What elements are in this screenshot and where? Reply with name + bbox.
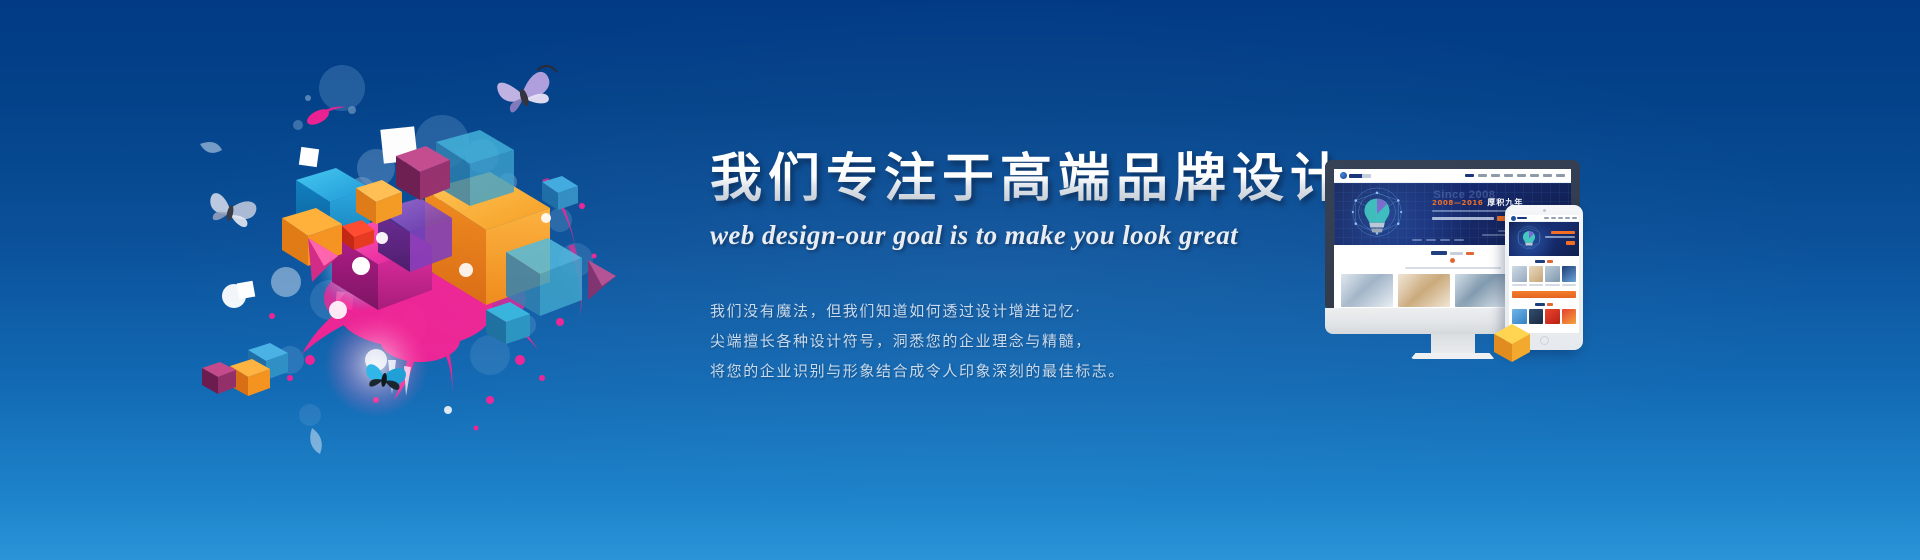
mobile-card-item[interactable] <box>1545 309 1560 324</box>
mobile-nav-item[interactable] <box>1551 217 1556 219</box>
mobile-hero <box>1509 222 1579 256</box>
logo-text <box>1349 174 1371 178</box>
mobile-thumbnail-captions <box>1509 282 1579 286</box>
mobile-hero-copy <box>1545 231 1575 245</box>
monitor-stand-neck <box>1431 334 1475 353</box>
mobile-nav[interactable] <box>1544 217 1577 219</box>
section-bullet <box>1450 258 1455 263</box>
pyramid-purple-right <box>588 260 616 300</box>
section-title-sub <box>1450 252 1463 255</box>
section-title-main <box>1431 251 1447 255</box>
logo-mark-icon <box>1340 172 1347 179</box>
mobile-thumbnail-row <box>1509 263 1579 282</box>
butterfly-top-right <box>495 63 565 116</box>
floating-orange-cube <box>1488 318 1536 366</box>
mobile-lightbulb-icon <box>1515 225 1543 253</box>
mobile-thumbnail-item[interactable] <box>1512 266 1527 282</box>
mobile-thumbnail-item[interactable] <box>1545 266 1560 282</box>
mobile-cta-button[interactable] <box>1512 291 1576 298</box>
home-button-icon[interactable] <box>1540 336 1549 345</box>
nav-item[interactable] <box>1504 174 1513 177</box>
mobile-hero-sub <box>1545 236 1575 238</box>
hero-copy: 我们专注于高端品牌设计 web design-our goal is to ma… <box>710 150 1330 386</box>
hero-pagination-dot[interactable] <box>1440 239 1450 241</box>
nav-item[interactable] <box>1517 174 1526 177</box>
thumbnail-item[interactable] <box>1455 274 1507 307</box>
mobile-header <box>1509 215 1579 222</box>
nav-item[interactable] <box>1530 174 1539 177</box>
mobile-caption <box>1545 284 1560 286</box>
mobile-caption <box>1512 284 1527 286</box>
hero-pagination-dot[interactable] <box>1426 239 1436 241</box>
mobile-thumbnail-item[interactable] <box>1562 266 1577 282</box>
page-subtitle: web design-our goal is to make you look … <box>710 220 1330 251</box>
mobile-nav-item[interactable] <box>1558 217 1563 219</box>
mobile-logo-text <box>1517 217 1527 219</box>
hero-years: 2008—2016 <box>1432 199 1483 207</box>
mobile-caption <box>1529 284 1544 286</box>
nav-item[interactable] <box>1491 174 1500 177</box>
mobile-hero-title <box>1551 231 1575 234</box>
mobile-section2-title-main <box>1535 303 1545 306</box>
mobile-logo-icon <box>1511 216 1516 221</box>
site-header <box>1334 169 1571 183</box>
butterfly-left <box>206 192 258 229</box>
site-logo <box>1340 172 1371 179</box>
body-copy: 我们没有魔法，但我们知道如何透过设计增进记忆‧ 尖端擅长各种设计符号，洞悉您的企… <box>710 296 1330 386</box>
mobile-nav-item[interactable] <box>1544 217 1549 219</box>
body-line-2: 尖端擅长各种设计符号，洞悉您的企业理念与精髓， <box>710 326 1330 356</box>
body-line-1: 我们没有魔法，但我们知道如何透过设计增进记忆‧ <box>710 296 1330 326</box>
nav-item[interactable] <box>1465 174 1474 177</box>
mobile-hero-badge[interactable] <box>1566 241 1575 245</box>
cube-blue-top-right <box>542 176 578 210</box>
mobile-nav-item[interactable] <box>1572 217 1577 219</box>
hero-pagination[interactable] <box>1412 239 1464 241</box>
monitor-stand-foot <box>1411 353 1495 359</box>
nav-item[interactable] <box>1543 174 1552 177</box>
hero-pagination-dot[interactable] <box>1412 239 1422 241</box>
mobile-thumbnail-item[interactable] <box>1529 266 1544 282</box>
hero-claim-text <box>1432 217 1494 220</box>
lightbulb-network-icon <box>1348 187 1406 243</box>
device-mockup-group: Since 2008 <box>1325 160 1655 390</box>
site-nav[interactable] <box>1465 174 1565 177</box>
front-camera-icon <box>1543 209 1546 212</box>
thumbnail-item[interactable] <box>1341 274 1393 307</box>
mobile-section-title-main <box>1535 260 1545 263</box>
section-title-accent <box>1466 252 1474 255</box>
page-title: 我们专注于高端品牌设计 <box>710 150 1330 208</box>
mobile-section-1 <box>1509 256 1579 298</box>
mobile-nav-item[interactable] <box>1565 217 1570 219</box>
mobile-card-item[interactable] <box>1562 309 1577 324</box>
mobile-screen <box>1509 215 1579 333</box>
mobile-caption <box>1562 284 1577 286</box>
nav-item[interactable] <box>1556 174 1565 177</box>
hero-banner: 我们专注于高端品牌设计 web design-our goal is to ma… <box>0 0 1920 560</box>
body-line-3: 将您的企业识别与形象结合成令人印象深刻的最佳标志。 <box>710 356 1330 386</box>
thumbnail-item[interactable] <box>1398 274 1450 307</box>
abstract-artwork <box>190 60 620 480</box>
nav-item[interactable] <box>1478 174 1487 177</box>
mobile-section2-title-accent <box>1547 303 1553 306</box>
mobile-section-title-accent <box>1547 260 1553 263</box>
hero-pagination-dot[interactable] <box>1454 239 1464 241</box>
